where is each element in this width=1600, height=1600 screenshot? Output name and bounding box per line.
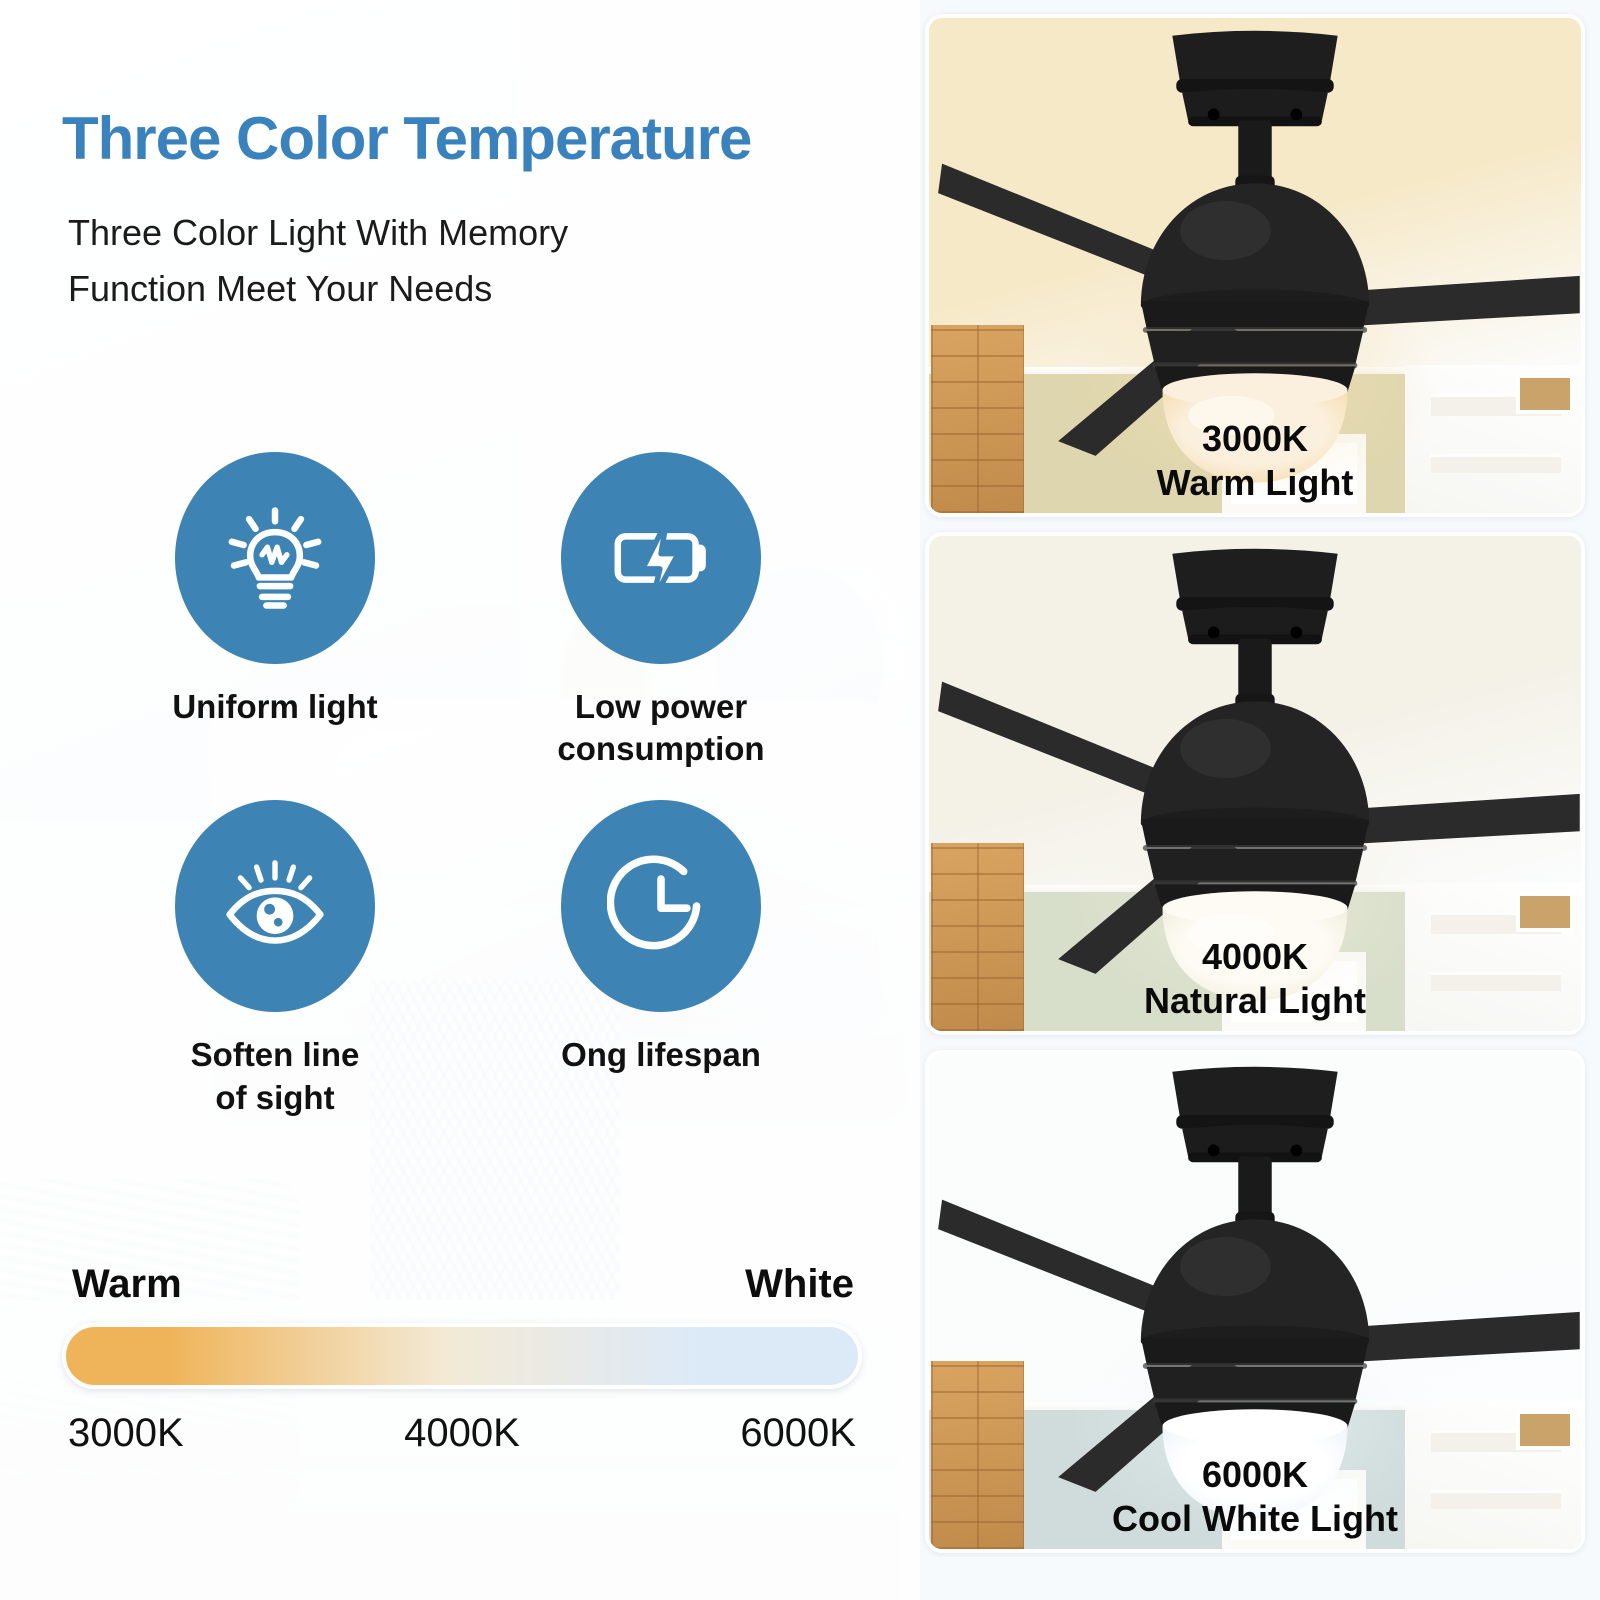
feature-lifespan: Ong lifespan	[504, 800, 818, 1118]
scale-tick-3000k: 3000K	[68, 1411, 184, 1456]
feature-label: Uniform light	[172, 686, 377, 728]
scale-warm-label: Warm	[72, 1262, 182, 1307]
color-temperature-scale: Warm White 3000K 4000K 6000K	[62, 1262, 862, 1456]
scale-tick-6000k: 6000K	[740, 1411, 856, 1456]
temperature-gradient-bar	[62, 1323, 862, 1389]
product-photo-6000k: 6000K Cool White Light	[925, 1050, 1585, 1553]
lightbulb-rays-icon	[175, 452, 375, 664]
feature-low-power: Low power consumption	[504, 452, 818, 770]
product-photo-3000k: 3000K Warm Light	[925, 14, 1585, 517]
page-title: Three Color Temperature	[62, 104, 751, 173]
eye-lashes-icon	[175, 800, 375, 1012]
feature-label: Ong lifespan	[561, 1034, 761, 1076]
photo-caption: 6000K Cool White Light	[929, 1453, 1581, 1541]
photo-caption: 4000K Natural Light	[929, 935, 1581, 1023]
feature-soften-sight: Soften line of sight	[118, 800, 432, 1118]
feature-grid: Uniform light Low power consumption	[118, 452, 818, 1119]
page-subtitle: Three Color Light With Memory Function M…	[68, 205, 568, 317]
product-photo-4000k: 4000K Natural Light	[925, 532, 1585, 1035]
product-photo-column: 3000K Warm Light	[925, 14, 1585, 1553]
feature-label: Low power consumption	[557, 686, 764, 770]
clock-icon	[561, 800, 761, 1012]
scale-tick-4000k: 4000K	[404, 1411, 520, 1456]
battery-bolt-icon	[561, 452, 761, 664]
photo-caption: 3000K Warm Light	[929, 417, 1581, 505]
feature-label: Soften line of sight	[191, 1034, 360, 1118]
scale-white-label: White	[745, 1262, 854, 1307]
feature-uniform-light: Uniform light	[118, 452, 432, 770]
